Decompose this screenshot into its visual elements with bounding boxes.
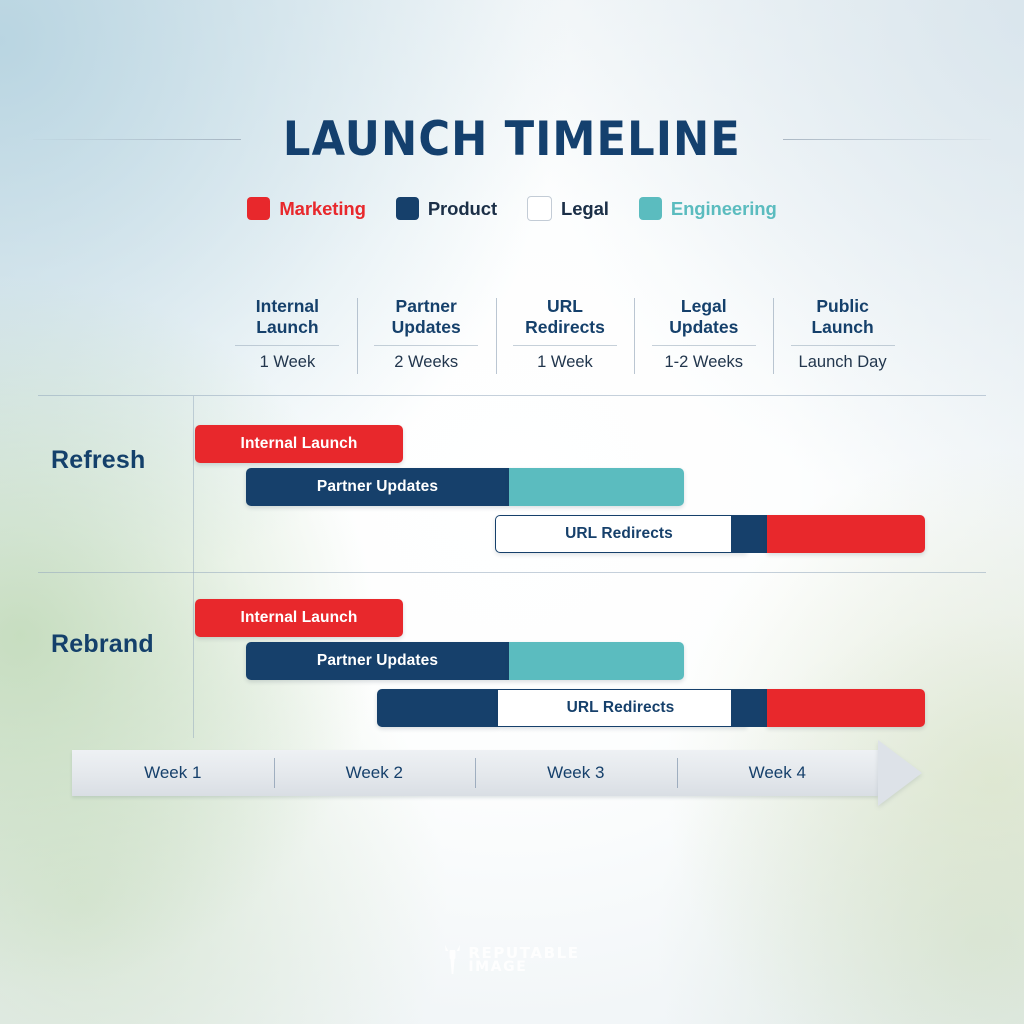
legend-item-legal: Legal: [527, 196, 609, 221]
bar-rebrand-internal-launch[interactable]: Internal Launch: [195, 599, 403, 637]
phase-column-internal-launch: Internal Launch 1 Week: [218, 296, 357, 372]
axis-tick-week-4: Week 4: [677, 750, 879, 796]
legend-swatch-product: [396, 197, 419, 220]
bar-segment-legal: [495, 515, 747, 553]
phase-name: Legal Updates: [640, 296, 767, 338]
axis-arrow-icon: [878, 740, 922, 806]
legend-label-legal: Legal: [561, 198, 609, 220]
phase-divider: [374, 345, 478, 346]
phase-divider: [235, 345, 339, 346]
legend-label-marketing: Marketing: [279, 198, 365, 220]
legend-label-engineering: Engineering: [671, 198, 777, 220]
phase-column-url-redirects: URL Redirects 1 Week: [496, 296, 635, 372]
legend-swatch-engineering: [639, 197, 662, 220]
infographic-canvas: LAUNCH TIMELINE Marketing Product Legal …: [0, 0, 1024, 1024]
bar-segment-legal: [498, 689, 747, 727]
bar-rebrand-url-redirects[interactable]: URL Redirects: [377, 689, 925, 727]
axis-tick-week-1: Week 1: [72, 750, 274, 796]
phase-name: Internal Launch: [224, 296, 351, 338]
title-row: LAUNCH TIMELINE: [0, 112, 1024, 167]
week-axis: Week 1 Week 2 Week 3 Week 4: [72, 750, 922, 796]
bar-segment-marketing: [767, 689, 925, 727]
bar-rebrand-partner-updates[interactable]: Partner Updates: [246, 642, 684, 680]
watermark-logo-icon: [444, 944, 461, 976]
legend-swatch-marketing: [247, 197, 270, 220]
phase-name: URL Redirects: [502, 296, 629, 338]
axis-tick-week-2: Week 2: [274, 750, 476, 796]
row-label-rebrand: Rebrand: [51, 630, 154, 659]
phase-duration: 2 Weeks: [363, 352, 490, 372]
watermark-line-1: REPUTABLE: [468, 946, 579, 960]
axis-tick-week-3: Week 3: [475, 750, 677, 796]
bar-segment-product-lead: [377, 689, 498, 727]
grid-rule-top: [38, 395, 986, 396]
phase-duration: Launch Day: [779, 352, 906, 372]
bar-segment-engineering: [509, 468, 684, 506]
bar-segment-product: [246, 642, 509, 680]
bar-refresh-internal-launch[interactable]: Internal Launch: [195, 425, 403, 463]
title-rule-right: [783, 139, 991, 140]
grid-rule-middle: [38, 572, 986, 573]
page-title: LAUNCH TIMELINE: [283, 112, 741, 167]
legend: Marketing Product Legal Engineering: [0, 196, 1024, 221]
phase-column-partner-updates: Partner Updates 2 Weeks: [357, 296, 496, 372]
bar-segment-marketing: [767, 515, 925, 553]
phase-column-legal-updates: Legal Updates 1-2 Weeks: [634, 296, 773, 372]
phase-divider: [791, 345, 895, 346]
legend-item-marketing: Marketing: [247, 197, 365, 220]
row-label-refresh: Refresh: [51, 446, 146, 475]
legend-label-product: Product: [428, 198, 497, 220]
bar-refresh-url-redirects[interactable]: URL Redirects: [495, 515, 925, 553]
phase-name: Public Launch: [779, 296, 906, 338]
phase-divider: [513, 345, 617, 346]
bar-segment-product: [246, 468, 509, 506]
legend-swatch-legal: [527, 196, 552, 221]
phase-duration: 1-2 Weeks: [640, 352, 767, 372]
phase-column-public-launch: Public Launch Launch Day: [773, 296, 912, 372]
phase-duration: 1 Week: [502, 352, 629, 372]
phase-divider: [652, 345, 756, 346]
bar-refresh-partner-updates[interactable]: Partner Updates: [246, 468, 684, 506]
bar-segment-engineering: [509, 642, 684, 680]
phase-name: Partner Updates: [363, 296, 490, 338]
watermark-text: REPUTABLE IMAGE: [468, 946, 579, 974]
phase-duration: 1 Week: [224, 352, 351, 372]
bar-label: Internal Launch: [195, 435, 403, 453]
bar-label: Internal Launch: [195, 609, 403, 627]
phase-header: Internal Launch 1 Week Partner Updates 2…: [218, 296, 912, 372]
axis-ticks: Week 1 Week 2 Week 3 Week 4: [72, 750, 878, 796]
watermark-line-2: IMAGE: [468, 960, 579, 974]
title-rule-left: [33, 139, 241, 140]
legend-item-product: Product: [396, 197, 497, 220]
grid-rule-vertical: [193, 396, 194, 738]
legend-item-engineering: Engineering: [639, 197, 777, 220]
watermark: REPUTABLE IMAGE: [0, 944, 1024, 976]
